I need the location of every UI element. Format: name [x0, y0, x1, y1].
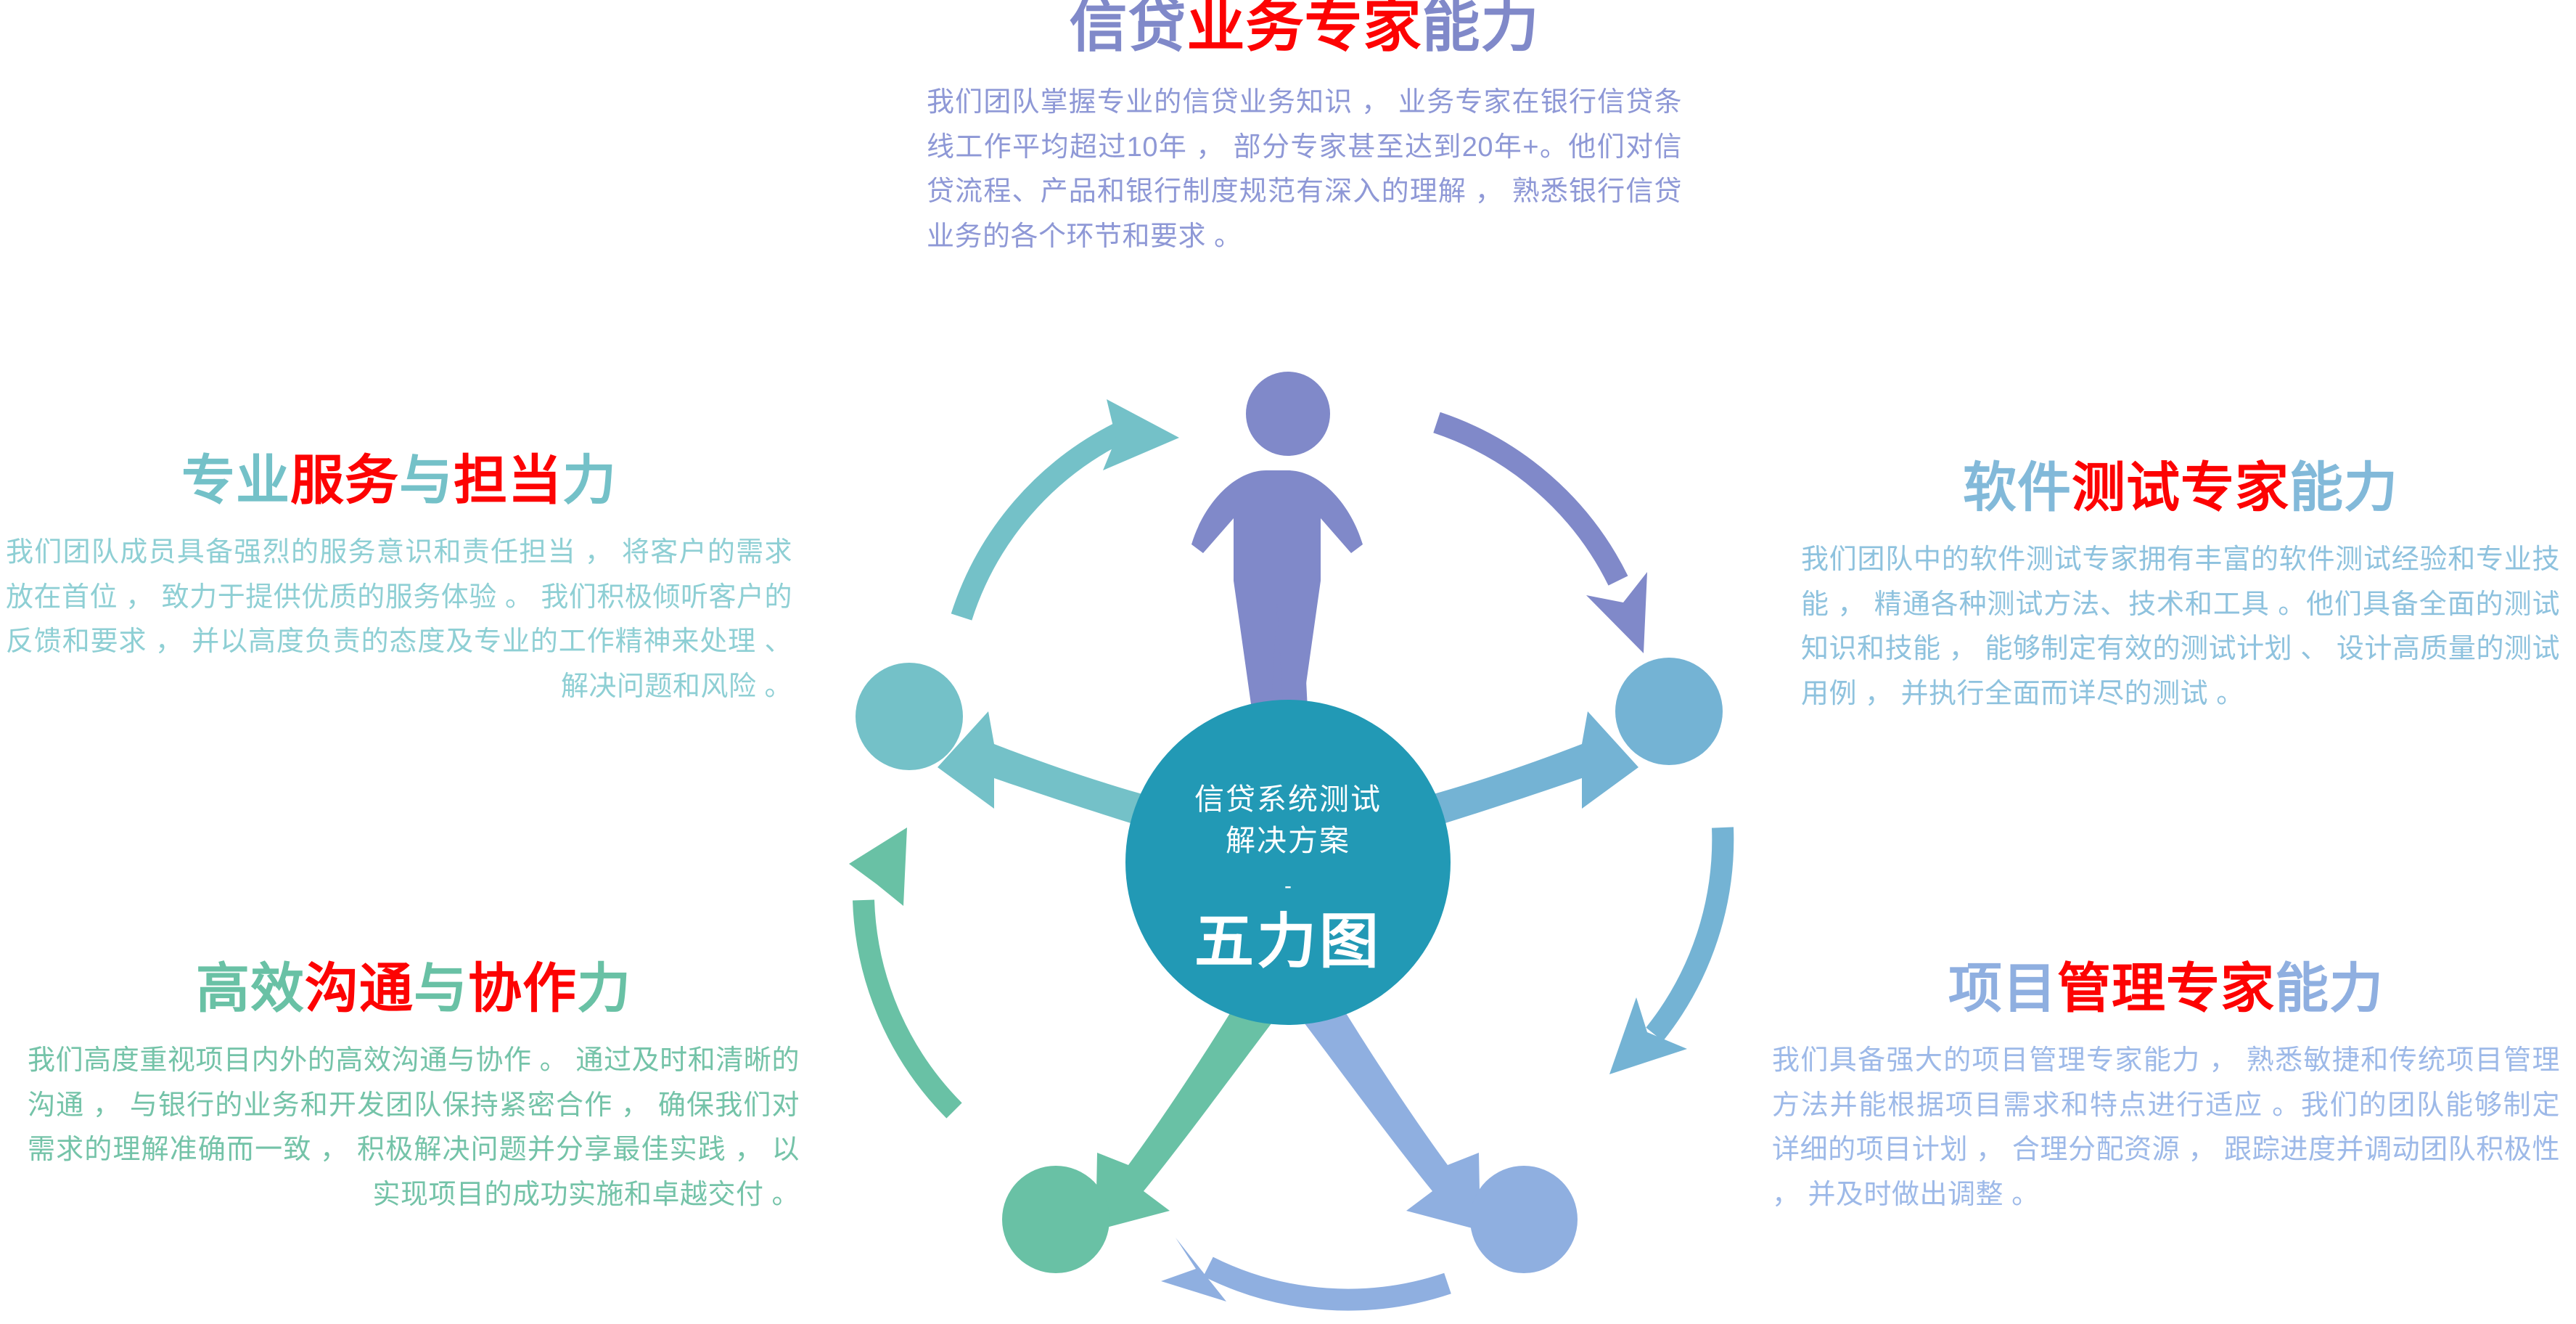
panel-service-body: 我们团队成员具备强烈的服务意识和责任担当 ， 将客户的需求放在首位 ， 致力于提… — [0, 531, 798, 709]
title-segment-4: 力 — [577, 958, 631, 1018]
node-bottom-right-circle[interactable] — [1470, 1166, 1578, 1273]
center-headline: 五力图 — [1194, 909, 1382, 975]
center-separator: - — [1284, 874, 1292, 898]
title-segment-0: 专业 — [181, 450, 290, 510]
title-segment-4: 力 — [562, 450, 617, 510]
panel-project-management: 项目管理专家能力 我们具备强大的项目管理专家能力 ， 熟悉敏捷和传统项目管理方法… — [1756, 961, 2576, 1217]
title-segment-1: 测试专家 — [2072, 457, 2289, 518]
center-title-line1: 信贷系统测试 — [1194, 782, 1382, 816]
outer-arrow-top-right-icon — [1437, 422, 1647, 653]
panel-pm-body: 我们具备强大的项目管理专家能力 ， 熟悉敏捷和传统项目管理方法并能根据项目需求和… — [1756, 1039, 2576, 1217]
node-right-circle[interactable] — [1615, 658, 1723, 765]
panel-credit-business: 信贷业务专家能力 我们团队掌握专业的信贷业务知识 ， 业务专家在银行信贷条线工作… — [911, 0, 1698, 259]
title-segment-1: 服务 — [290, 450, 399, 510]
panel-communication-title: 高效沟通与协作力 — [15, 961, 813, 1017]
title-segment-2: 与 — [414, 958, 468, 1018]
title-segment-0: 高效 — [196, 958, 305, 1018]
title-segment-2: 能力 — [1422, 0, 1540, 58]
panel-software-testing: 软件测试专家能力 我们团队中的软件测试专家拥有丰富的软件测试经验和专业技能 ， … — [1785, 460, 2576, 716]
panel-qa-body: 我们团队中的软件测试专家拥有丰富的软件测试经验和专业技能 ， 精通各种测试方法、… — [1785, 538, 2576, 716]
panel-professional-service: 专业服务与担当力 我们团队成员具备强烈的服务意识和责任担当 ， 将客户的需求放在… — [0, 453, 798, 709]
panel-service-title: 专业服务与担当力 — [0, 453, 798, 509]
outer-arrow-right-icon — [1609, 827, 1723, 1074]
panel-communication-collaboration: 高效沟通与协作力 我们高度重视项目内外的高效沟通与协作 。 通过及时和清晰的沟通… — [15, 961, 813, 1217]
title-segment-1: 沟通 — [305, 958, 414, 1018]
center-circle[interactable] — [1125, 700, 1451, 1025]
title-segment-3: 担当 — [454, 450, 562, 510]
title-segment-3: 协作 — [468, 958, 577, 1018]
panel-communication-body: 我们高度重视项目内外的高效沟通与协作 。 通过及时和清晰的沟通 ， 与银行的业务… — [15, 1039, 813, 1217]
title-segment-2: 与 — [399, 450, 454, 510]
infographic-canvas: 信贷业务专家能力 我们团队掌握专业的信贷业务知识 ， 业务专家在银行信贷条线工作… — [0, 0, 2576, 1324]
outer-arrow-bottom-icon — [1161, 1238, 1448, 1301]
panel-pm-title: 项目管理专家能力 — [1756, 961, 2576, 1017]
title-segment-0: 软件 — [1963, 457, 2072, 518]
title-segment-2: 能力 — [2289, 457, 2398, 518]
panel-credit-body: 我们团队掌握专业的信贷业务知识 ， 业务专家在银行信贷条线工作平均超过10年 ，… — [911, 81, 1698, 259]
panel-credit-title: 信贷业务专家能力 — [911, 0, 1698, 56]
node-bottom-left-circle[interactable] — [1002, 1166, 1109, 1273]
title-segment-2: 能力 — [2275, 958, 2384, 1018]
center-title-line2: 解决方案 — [1226, 824, 1350, 857]
outer-arrow-top-left-icon — [961, 399, 1179, 617]
title-segment-0: 项目 — [1948, 958, 2057, 1018]
panel-qa-title: 软件测试专家能力 — [1785, 460, 2576, 516]
title-segment-0: 信贷 — [1070, 0, 1187, 58]
title-segment-1: 管理专家 — [2057, 958, 2275, 1018]
node-left-circle[interactable] — [856, 663, 963, 770]
five-forces-diagram: 信贷系统测试 解决方案 - 五力图 — [813, 363, 1763, 1324]
outer-arrow-left-icon — [849, 827, 954, 1111]
title-segment-1: 业务专家 — [1187, 0, 1422, 58]
